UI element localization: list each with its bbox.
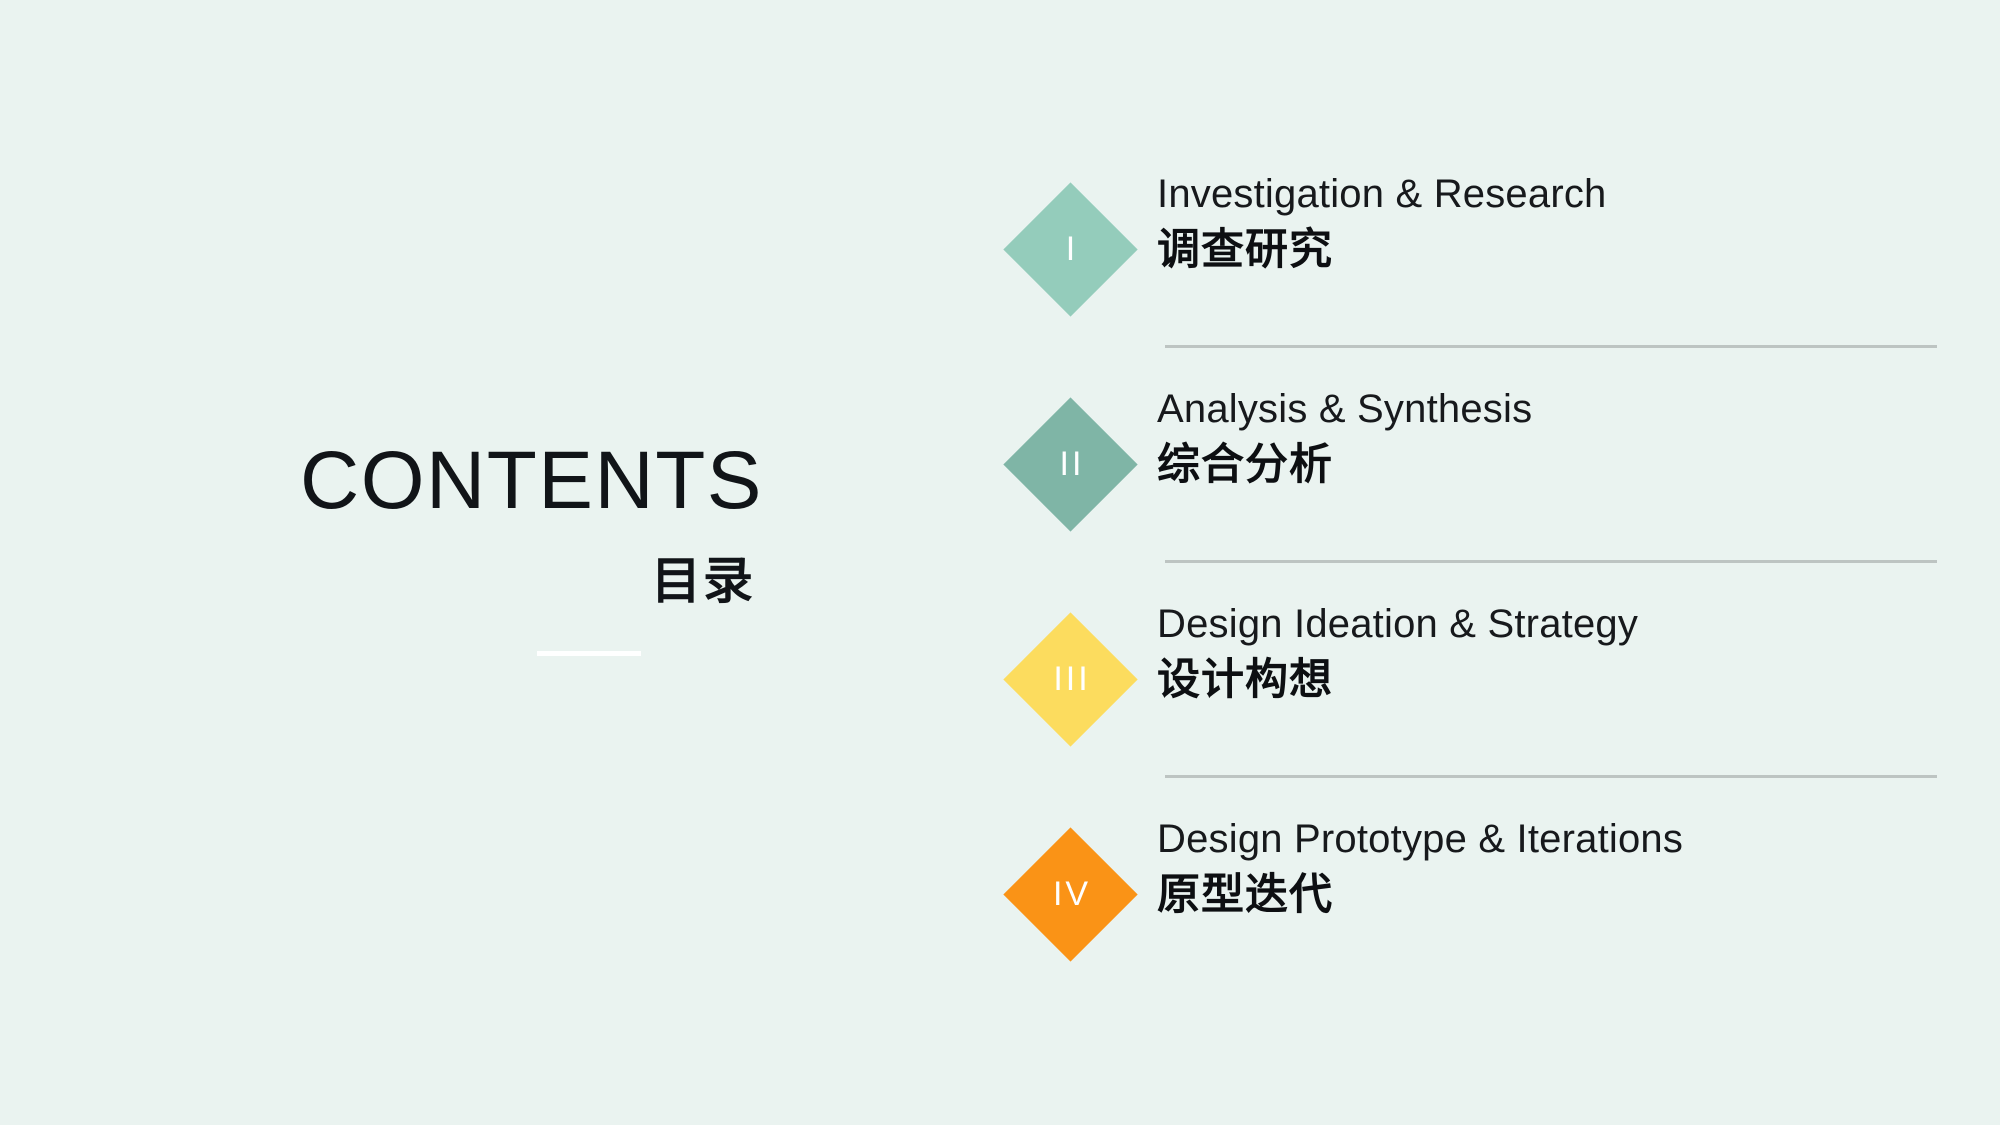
toc-title-cn-2: 综合分析 [1157, 440, 1947, 492]
toc-item-1[interactable]: I Investigation & Research 调查研究 [1003, 142, 1943, 357]
toc-divider-1 [1165, 345, 1937, 348]
toc-numeral-3: III [1003, 612, 1138, 747]
title-underline-rule [537, 651, 641, 656]
toc-item-2[interactable]: II Analysis & Synthesis 综合分析 [1003, 357, 1943, 572]
toc-list: I Investigation & Research 调查研究 II Analy… [1003, 142, 1943, 1002]
diamond-badge-2[interactable]: II [1003, 397, 1138, 532]
toc-text-4: Design Prototype & Iterations 原型迭代 [1157, 817, 1947, 921]
diamond-badge-4[interactable]: IV [1003, 827, 1138, 962]
toc-title-cn-3: 设计构想 [1157, 655, 1947, 707]
toc-text-3: Design Ideation & Strategy 设计构想 [1157, 602, 1947, 706]
toc-divider-2 [1165, 560, 1937, 563]
page-title: CONTENTS [300, 440, 763, 522]
toc-text-2: Analysis & Synthesis 综合分析 [1157, 387, 1947, 491]
toc-text-1: Investigation & Research 调查研究 [1157, 172, 1947, 276]
diamond-badge-3[interactable]: III [1003, 612, 1138, 747]
toc-item-4[interactable]: IV Design Prototype & Iterations 原型迭代 [1003, 787, 1943, 1002]
toc-title-en-2: Analysis & Synthesis [1157, 387, 1947, 432]
toc-item-3[interactable]: III Design Ideation & Strategy 设计构想 [1003, 572, 1943, 787]
toc-divider-3 [1165, 775, 1937, 778]
toc-title-en-3: Design Ideation & Strategy [1157, 602, 1947, 647]
toc-title-en-1: Investigation & Research [1157, 172, 1947, 217]
toc-title-cn-1: 调查研究 [1157, 225, 1947, 277]
contents-slide: CONTENTS 目录 I Investigation & Research 调… [0, 0, 2000, 1125]
title-block: CONTENTS 目录 [300, 440, 755, 606]
toc-numeral-2: II [1003, 397, 1138, 532]
toc-title-en-4: Design Prototype & Iterations [1157, 817, 1947, 862]
toc-numeral-4: IV [1003, 827, 1138, 962]
toc-title-cn-4: 原型迭代 [1157, 870, 1947, 922]
page-subtitle: 目录 [300, 556, 755, 606]
diamond-badge-1[interactable]: I [1003, 182, 1138, 317]
toc-numeral-1: I [1003, 182, 1138, 317]
